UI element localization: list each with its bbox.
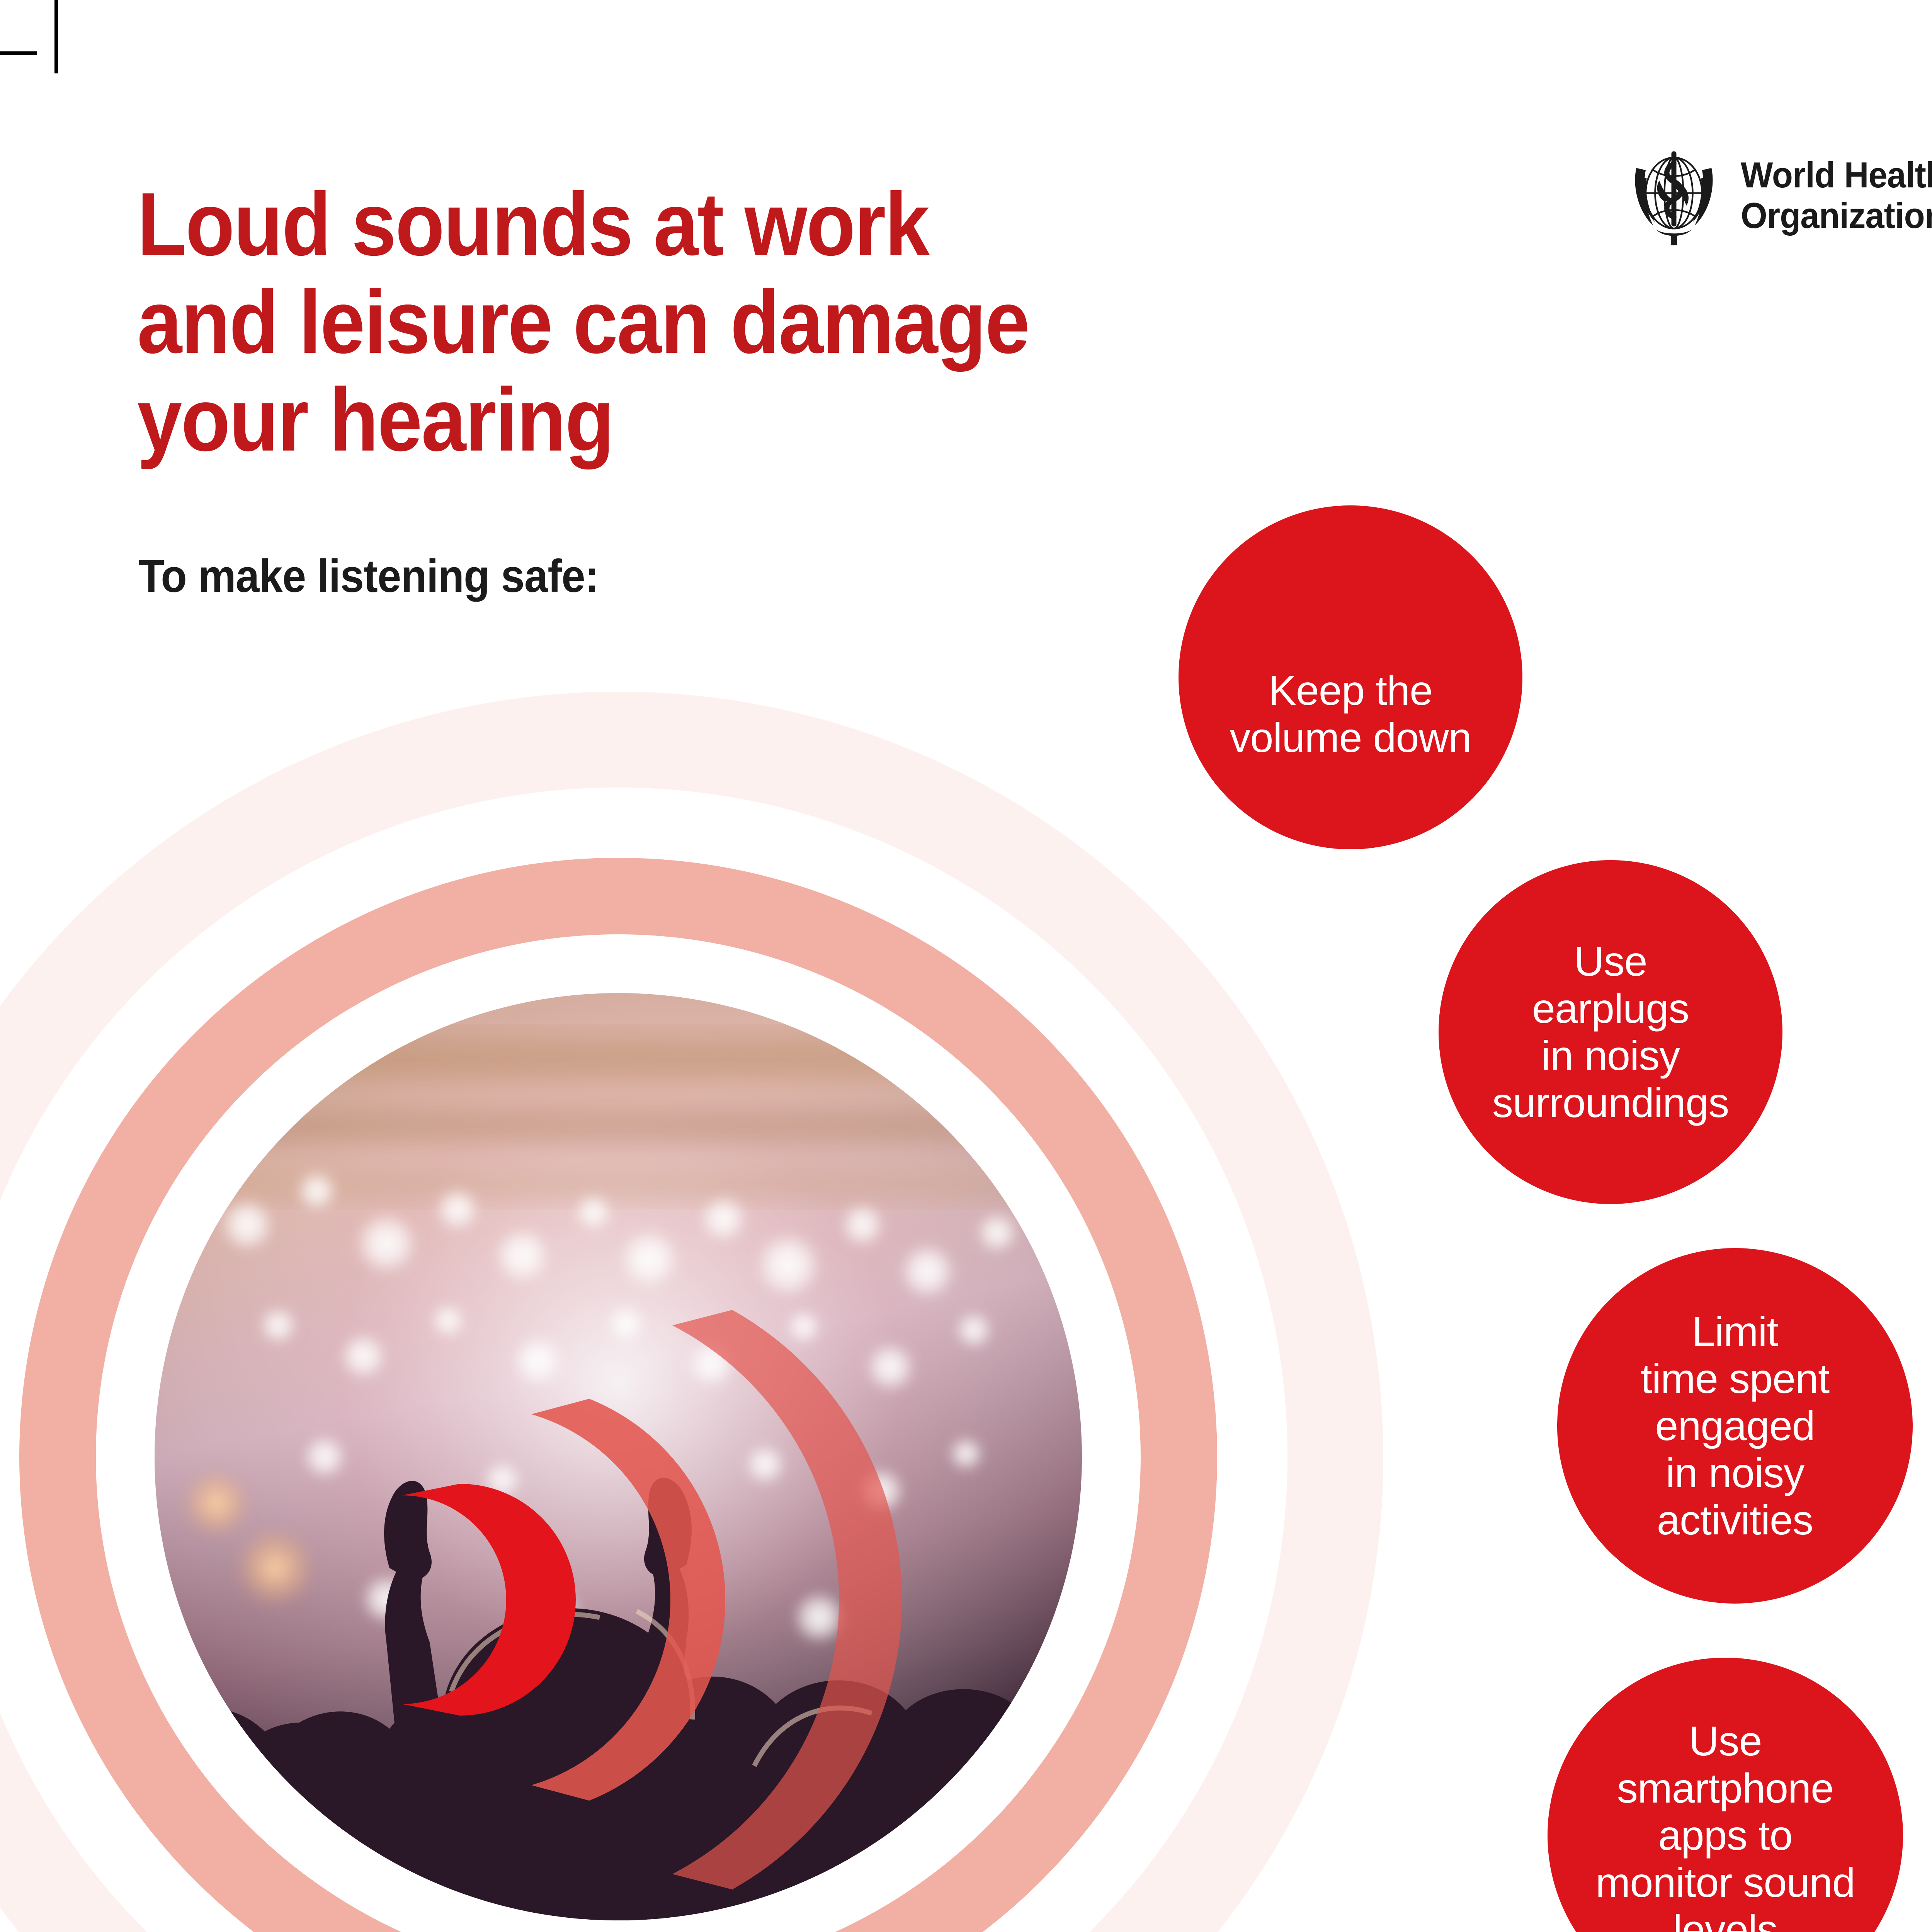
who-emblem-icon <box>1622 143 1726 247</box>
advice-circle-smartphone-apps[interactable]: Use smartphone apps to monitor sound lev… <box>1548 1658 1903 1932</box>
page-title: Loud sounds at work and leisure can dama… <box>137 176 1285 469</box>
crop-mark-top-left-vertical <box>54 0 58 73</box>
concert-crowd-photo <box>155 993 1082 1920</box>
advice-circle-keep-volume-down[interactable]: Keep the volume down <box>1179 505 1522 849</box>
hero-rings <box>0 692 1383 1932</box>
crop-mark-top-left-horizontal <box>0 51 37 55</box>
subtitle: To make listening safe: <box>138 549 599 603</box>
advice-circle-use-earplugs[interactable]: Use earplugs in noisy surroundings <box>1439 860 1782 1204</box>
advice-circle-limit-time[interactable]: Limit time spent engaged in noisy activi… <box>1557 1248 1913 1604</box>
who-wordmark: World Health Organization <box>1741 155 1932 236</box>
who-logo: World Health Organization <box>1622 143 1932 247</box>
